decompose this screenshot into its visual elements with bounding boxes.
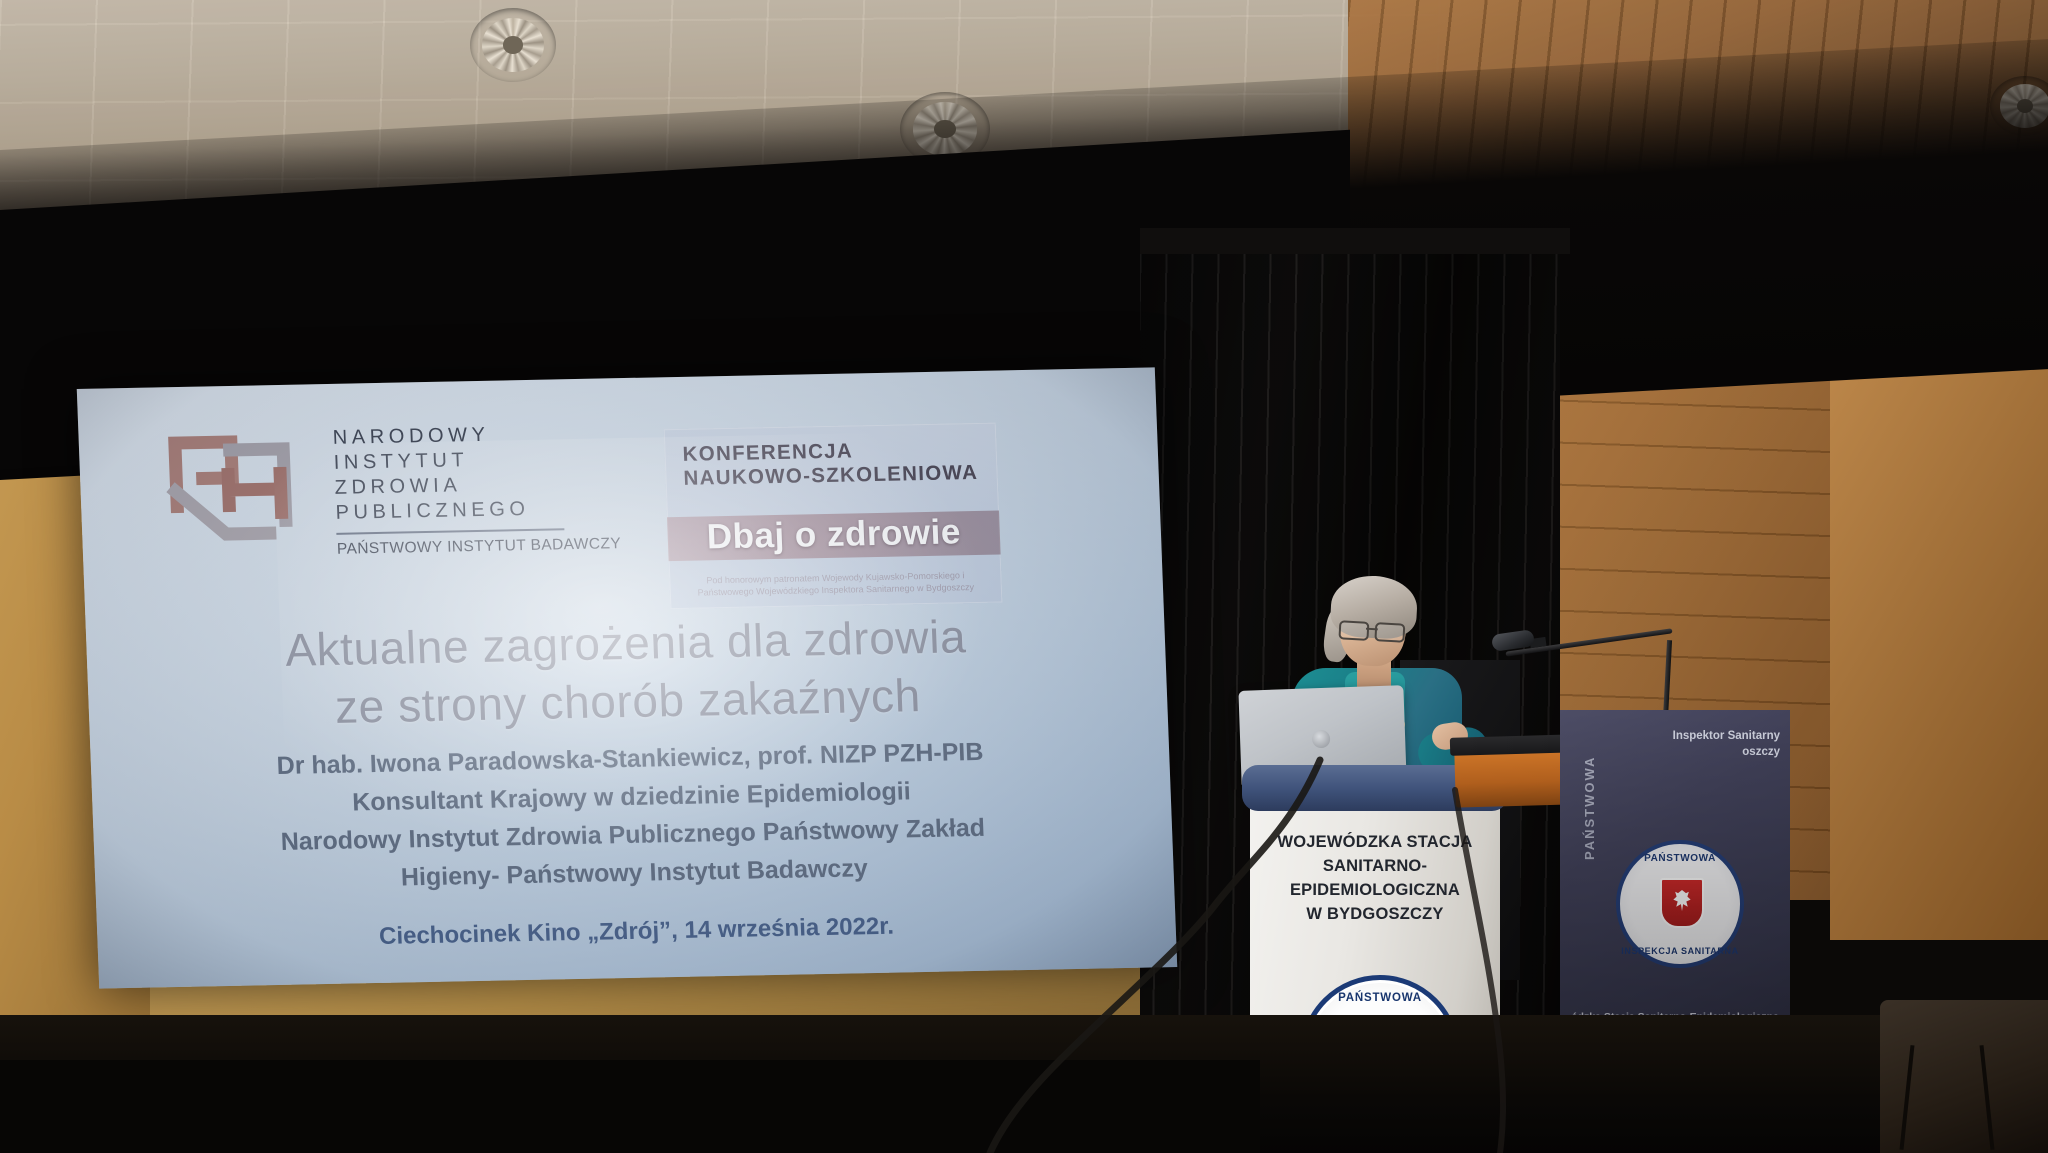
stage-front-dark [0,1060,1260,1153]
podium-org-text: WOJEWÓDZKA STACJA SANITARNO-EPIDEMIOLOGI… [1255,830,1495,926]
projection-screen: NARODOWY INSTYTUT ZDROWIA PUBLICZNEGO PA… [77,367,1177,988]
conference-line-1: KONFERENCJA [664,423,997,468]
conference-badge: KONFERENCJA NAUKOWO-SZKOLENIOWA Dbaj o z… [664,423,1003,610]
ceiling-vent-icon [470,8,556,82]
logo-divider [336,528,564,535]
slide-title-line-2: ze strony chorób zakaźnych [88,661,1168,741]
conference-headline: Dbaj o zdrowie [667,501,1001,570]
eyeglasses-icon [1339,620,1406,638]
podium-text-line-2: SANITARNO-EPIDEMIOLOGICZNA [1255,854,1495,902]
photo-scene: NARODOWY INSTYTUT ZDROWIA PUBLICZNEGO PA… [0,0,2048,1153]
curtain-rail [1140,228,1570,254]
logo-subtitle: PAŃSTWOWY INSTYTUT BADAWCZY [337,534,622,559]
slide-title: Aktualne zagrożenia dla zdrowia ze stron… [86,603,1168,741]
pzh-logo-icon [160,414,311,557]
slide-venue-line: Ciechocinek Kino „Zdrój”, 14 września 20… [97,907,1176,957]
podium-emblem-top-text: PAŃSTWOWA [1305,992,1455,1004]
logo-line-4: PUBLICZNEGO [335,495,620,526]
laptop-lid-logo [1312,730,1331,749]
right-wall-strip [1830,300,2048,940]
conference-fine-print: Pod honorowym patronatem Wojewody Kujaws… [669,562,1002,599]
pzh-logo-block: NARODOWY INSTYTUT ZDROWIA PUBLICZNEGO PA… [160,406,726,567]
podium-text-line-1: WOJEWÓDZKA STACJA [1255,830,1495,854]
slide-credits: Dr hab. Iwona Paradowska-Stankiewicz, pr… [90,729,1174,903]
podium-text-line-3: W BYDGOSZCZY [1255,902,1495,926]
slide-title-line-1: Aktualne zagrożenia dla zdrowia [284,610,967,676]
